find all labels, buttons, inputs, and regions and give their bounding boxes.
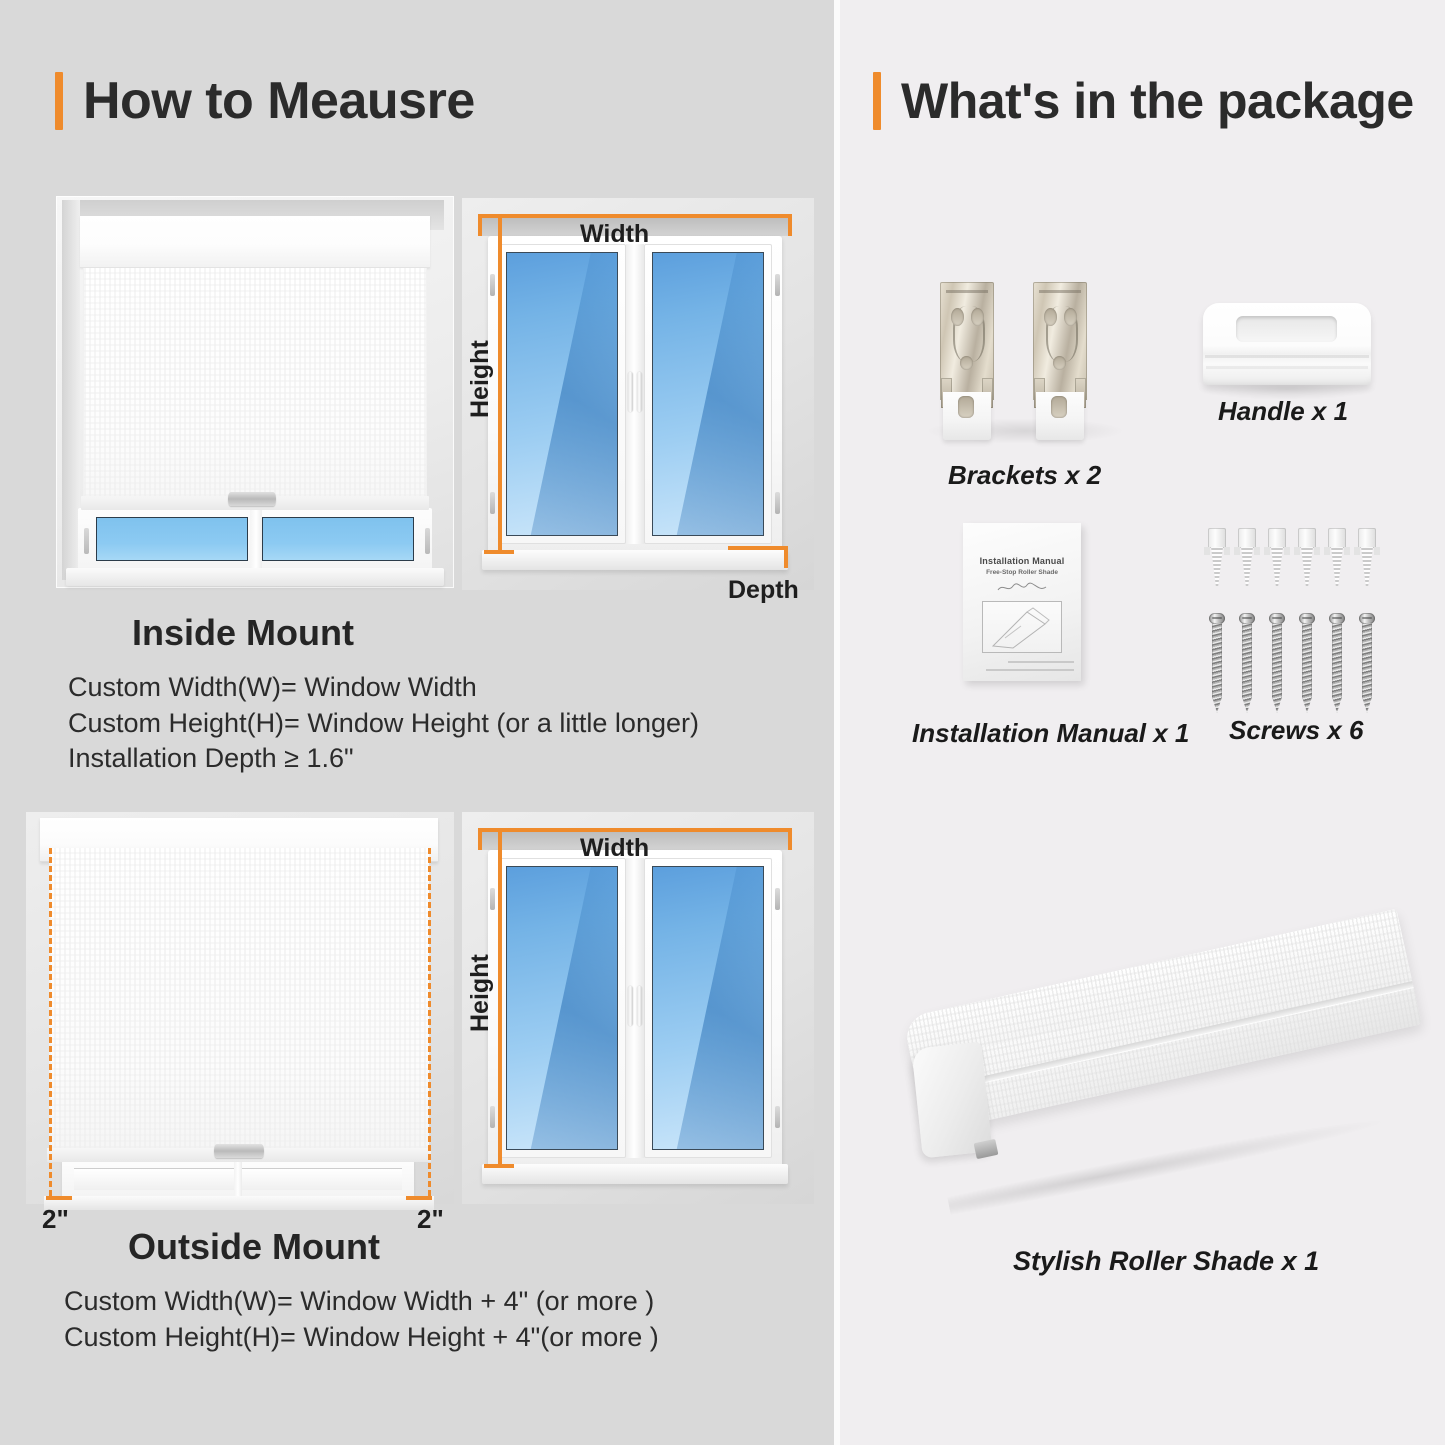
window-hinge-top-left [490, 888, 495, 910]
outside-mount-spec-list: Custom Width(W)= Window Width + 4" (or m… [64, 1284, 659, 1355]
screw-head [1299, 613, 1315, 624]
anchor-body [1271, 547, 1283, 586]
screw-head [1359, 613, 1375, 624]
window-handle-icon-left [628, 986, 633, 1026]
screw-shaft [1242, 623, 1252, 713]
label-height: Height [466, 954, 495, 1032]
screw-icon-6 [1359, 613, 1375, 713]
handle-grip-slot [1236, 316, 1337, 342]
anchor-wing-left [1324, 547, 1330, 555]
handle-label: Handle x 1 [1218, 396, 1348, 427]
screw-shaft [1362, 623, 1372, 713]
outside-mount-window-diagram: Width Height [462, 812, 814, 1204]
inside-mount-shade-fabric [83, 268, 427, 502]
window-hinge-bottom-left [490, 492, 495, 514]
window-diagram-sill [482, 550, 788, 570]
wall-anchor-icon-6 [1358, 528, 1376, 586]
anchor-body [1331, 547, 1343, 586]
outside-mount-window-sill [44, 1196, 434, 1210]
bracket-icon-1 [940, 282, 994, 440]
window-handles [628, 986, 644, 1028]
anchor-wing-left [1354, 547, 1360, 555]
anchor-wing-left [1294, 547, 1300, 555]
inside-mount-window-diagram: Width Height Depth [462, 198, 814, 590]
overhang-measure-right [406, 1196, 432, 1200]
label-height: Height [466, 340, 495, 418]
screw-icon-4 [1299, 613, 1315, 713]
anchor-wing-right [1374, 547, 1380, 555]
inside-mount-spec-3: Installation Depth ≥ 1.6" [68, 741, 699, 777]
window-sash-right [644, 244, 772, 544]
anchor-head [1238, 528, 1256, 548]
right-heading-text: What's in the package [901, 76, 1414, 126]
anchor-head [1268, 528, 1286, 548]
screw-icon-5 [1329, 613, 1345, 713]
anchor-wing-right [1344, 547, 1350, 555]
manual-cover-subtitle: Free-Stop Roller Shade [966, 569, 1078, 576]
inside-mount-glass-right [262, 517, 414, 561]
roller-shade-shadow [947, 1111, 1383, 1217]
manual-label: Installation Manual x 1 [912, 718, 1189, 749]
manual-footer-line-1 [1008, 661, 1074, 663]
manual-cover-title: Installation Manual [966, 556, 1078, 566]
overhang-measure-left [46, 1196, 72, 1200]
anchor-wing-left [1204, 547, 1210, 555]
anchor-head [1328, 528, 1346, 548]
handle-ridge-1 [1205, 355, 1369, 358]
inside-mount-window-sill [66, 568, 444, 586]
inside-mount-title: Inside Mount [132, 612, 354, 654]
roller-shade-icon [905, 905, 1425, 1225]
anchor-head [1358, 528, 1376, 548]
window-sash-right [644, 858, 772, 1158]
window-glass-right [652, 252, 764, 536]
accent-bar-icon [873, 72, 881, 130]
window-glass-right [652, 866, 764, 1150]
window-diagram-sashes [498, 244, 772, 544]
outside-mount-pull-handle-icon [214, 1144, 264, 1158]
width-tick-right [788, 828, 792, 850]
anchor-head [1208, 528, 1226, 548]
inside-mount-spec-1: Custom Width(W)= Window Width [68, 670, 699, 706]
screw-head [1239, 613, 1255, 624]
brackets-label: Brackets x 2 [948, 460, 1101, 491]
handle-ridge-2 [1206, 366, 1368, 369]
bracket-mount-slot [958, 396, 974, 418]
overhang-guide-right [428, 848, 431, 1196]
roller-shade-label: Stylish Roller Shade x 1 [1013, 1246, 1319, 1277]
anchor-body [1361, 547, 1373, 586]
overhang-label-right: 2" [417, 1204, 444, 1235]
window-glass-left [506, 252, 618, 536]
window-diagram-sill [482, 1164, 788, 1184]
window-sash-left [498, 858, 626, 1158]
width-tick-left [478, 828, 482, 850]
window-handle-icon-left [628, 372, 633, 412]
manual-footer-line-2 [986, 669, 1074, 671]
anchor-wing-right [1224, 547, 1230, 555]
width-measure-line [478, 828, 792, 832]
inside-mount-hinge-right [425, 528, 430, 554]
height-measure-line [498, 216, 502, 554]
screw-head [1329, 613, 1345, 624]
width-measure-line [478, 214, 792, 218]
window-diagram-sashes [498, 858, 772, 1158]
wall-anchor-icon-5 [1328, 528, 1346, 586]
outside-mount-shade-fabric [49, 848, 429, 1154]
manual-cover-illustration-box [982, 601, 1062, 653]
window-hinge-top-right [775, 274, 780, 296]
label-depth: Depth [728, 576, 799, 605]
left-heading-text: How to Meausre [83, 75, 475, 127]
manual-cover-diagram [983, 602, 1063, 654]
inside-mount-window-mullion [250, 508, 262, 574]
bracket-hole-1 [951, 308, 964, 326]
outside-mount-title: Outside Mount [128, 1226, 380, 1268]
inside-mount-spec-2: Custom Height(H)= Window Height (or a li… [68, 706, 699, 742]
wall-anchor-icon-3 [1268, 528, 1286, 586]
window-hinge-top-left [490, 274, 495, 296]
screw-head [1209, 613, 1225, 624]
anchor-head [1298, 528, 1316, 548]
window-hinge-bottom-left [490, 1106, 495, 1128]
width-tick-left [478, 214, 482, 236]
window-glass-left [506, 866, 618, 1150]
height-tick-bottom [484, 550, 514, 554]
bracket-icon-2 [1033, 282, 1087, 440]
depth-measure-line [728, 546, 788, 550]
inside-mount-headrail [80, 216, 430, 268]
width-tick-right [788, 214, 792, 236]
anchor-wing-right [1284, 547, 1290, 555]
label-width: Width [580, 834, 649, 863]
height-tick-top [484, 214, 514, 218]
screw-shaft [1332, 623, 1342, 713]
wall-anchor-icon-2 [1238, 528, 1256, 586]
label-width: Width [580, 220, 649, 249]
anchor-body [1241, 547, 1253, 586]
anchor-body [1211, 547, 1223, 586]
wall-anchor-icon-4 [1298, 528, 1316, 586]
screw-shaft [1272, 623, 1282, 713]
inside-mount-hinge-left [84, 528, 89, 554]
screw-icon-3 [1269, 613, 1285, 713]
outside-mount-spec-2: Custom Height(H)= Window Height + 4"(or … [64, 1320, 659, 1356]
inside-mount-spec-list: Custom Width(W)= Window Width Custom Hei… [68, 670, 699, 777]
anchor-body [1301, 547, 1313, 586]
overhang-guide-left [49, 848, 52, 1196]
right-panel-heading: What's in the package [873, 72, 1414, 130]
window-handles [628, 372, 644, 414]
bracket-mount-slot [1051, 396, 1067, 418]
roller-shade-metal-clip [974, 1139, 999, 1159]
anchor-wing-left [1264, 547, 1270, 555]
anchor-wing-left [1234, 547, 1240, 555]
inside-mount-pull-handle-icon [228, 492, 276, 506]
screw-shaft [1302, 623, 1312, 713]
height-measure-line [498, 830, 502, 1168]
left-panel-heading: How to Meausre [55, 72, 475, 130]
manual-cover-scribble [996, 581, 1048, 595]
window-hinge-bottom-right [775, 492, 780, 514]
screw-icon-2 [1239, 613, 1255, 713]
overhang-label-left: 2" [42, 1204, 69, 1235]
depth-tick [784, 546, 788, 568]
window-handle-icon-right [637, 372, 642, 412]
bracket-hole-3 [1053, 356, 1066, 370]
height-tick-top [484, 828, 514, 832]
bracket-hole-2 [1064, 308, 1077, 326]
window-handle-icon-right [637, 986, 642, 1026]
anchor-wing-right [1314, 547, 1320, 555]
screw-head [1269, 613, 1285, 624]
wall-anchor-icon-1 [1208, 528, 1226, 586]
outside-mount-spec-1: Custom Width(W)= Window Width + 4" (or m… [64, 1284, 659, 1320]
infographic-page: How to Meausre [0, 0, 1445, 1445]
window-hinge-top-right [775, 888, 780, 910]
accent-bar-icon [55, 72, 63, 130]
inside-mount-glass-left [96, 517, 248, 561]
screws-label: Screws x 6 [1229, 715, 1363, 746]
height-tick-bottom [484, 1164, 514, 1168]
window-sash-left [498, 244, 626, 544]
window-hinge-bottom-right [775, 1106, 780, 1128]
bracket-hole-3 [960, 356, 973, 370]
screw-icon-1 [1209, 613, 1225, 713]
bracket-hole-2 [971, 308, 984, 326]
screw-shaft [1212, 623, 1222, 713]
anchor-wing-right [1254, 547, 1260, 555]
bracket-hole-1 [1044, 308, 1057, 326]
